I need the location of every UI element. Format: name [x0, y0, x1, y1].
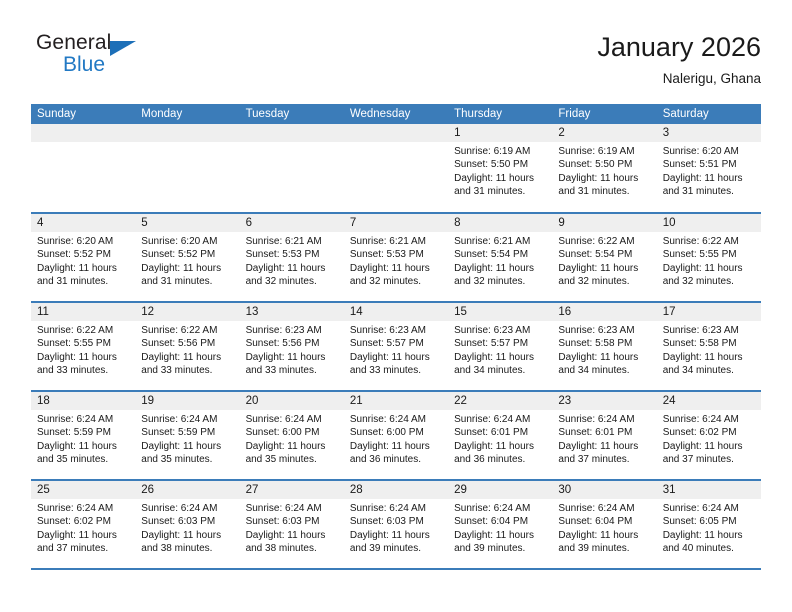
- sunrise-time: Sunrise: 6:24 AM: [558, 502, 651, 515]
- weekday-header-saturday: Saturday: [657, 104, 761, 124]
- day-number: 16: [552, 303, 656, 321]
- calendar-day-cell[interactable]: 5Sunrise: 6:20 AMSunset: 5:52 PMDaylight…: [135, 213, 239, 302]
- day-cell-inner: 17Sunrise: 6:23 AMSunset: 5:58 PMDayligh…: [657, 303, 761, 390]
- day-number: 25: [31, 481, 135, 499]
- day-cell-inner: 13Sunrise: 6:23 AMSunset: 5:56 PMDayligh…: [240, 303, 344, 390]
- calendar-header: Sunday Monday Tuesday Wednesday Thursday…: [31, 104, 761, 124]
- daylight-duration-line1: Daylight: 11 hours: [454, 440, 547, 453]
- day-number: 19: [135, 392, 239, 410]
- day-sun-info: Sunrise: 6:24 AMSunset: 6:05 PMDaylight:…: [657, 499, 761, 556]
- sunrise-time: Sunrise: 6:24 AM: [663, 413, 756, 426]
- daylight-duration-line2: and 33 minutes.: [350, 364, 443, 377]
- calendar-week-row: 11Sunrise: 6:22 AMSunset: 5:55 PMDayligh…: [31, 302, 761, 391]
- day-sun-info: Sunrise: 6:23 AMSunset: 5:58 PMDaylight:…: [552, 321, 656, 378]
- day-sun-info: Sunrise: 6:24 AMSunset: 6:02 PMDaylight:…: [31, 499, 135, 556]
- day-cell-inner: 31Sunrise: 6:24 AMSunset: 6:05 PMDayligh…: [657, 481, 761, 568]
- daylight-duration-line1: Daylight: 11 hours: [37, 351, 130, 364]
- daylight-duration-line1: Daylight: 11 hours: [37, 440, 130, 453]
- sunrise-time: Sunrise: 6:23 AM: [246, 324, 339, 337]
- sunrise-time: Sunrise: 6:24 AM: [37, 502, 130, 515]
- sunrise-time: Sunrise: 6:22 AM: [141, 324, 234, 337]
- day-number: 21: [344, 392, 448, 410]
- daylight-duration-line2: and 32 minutes.: [558, 275, 651, 288]
- day-number: 20: [240, 392, 344, 410]
- day-cell-inner: 19Sunrise: 6:24 AMSunset: 5:59 PMDayligh…: [135, 392, 239, 479]
- day-cell-inner: 25Sunrise: 6:24 AMSunset: 6:02 PMDayligh…: [31, 481, 135, 568]
- calendar-day-cell[interactable]: 25Sunrise: 6:24 AMSunset: 6:02 PMDayligh…: [31, 480, 135, 569]
- day-number: [344, 124, 448, 142]
- daylight-duration-line1: Daylight: 11 hours: [663, 351, 756, 364]
- calendar-day-cell[interactable]: 28Sunrise: 6:24 AMSunset: 6:03 PMDayligh…: [344, 480, 448, 569]
- calendar-day-cell[interactable]: 4Sunrise: 6:20 AMSunset: 5:52 PMDaylight…: [31, 213, 135, 302]
- sunset-time: Sunset: 6:05 PM: [663, 515, 756, 528]
- day-sun-info: Sunrise: 6:23 AMSunset: 5:57 PMDaylight:…: [344, 321, 448, 378]
- daylight-duration-line1: Daylight: 11 hours: [558, 529, 651, 542]
- sunset-time: Sunset: 5:58 PM: [663, 337, 756, 350]
- day-cell-inner: 29Sunrise: 6:24 AMSunset: 6:04 PMDayligh…: [448, 481, 552, 568]
- weekday-header-row: Sunday Monday Tuesday Wednesday Thursday…: [31, 104, 761, 124]
- sunrise-time: Sunrise: 6:24 AM: [454, 413, 547, 426]
- calendar-day-cell[interactable]: 18Sunrise: 6:24 AMSunset: 5:59 PMDayligh…: [31, 391, 135, 480]
- day-sun-info: Sunrise: 6:23 AMSunset: 5:58 PMDaylight:…: [657, 321, 761, 378]
- calendar-day-cell[interactable]: 20Sunrise: 6:24 AMSunset: 6:00 PMDayligh…: [240, 391, 344, 480]
- daylight-duration-line1: Daylight: 11 hours: [246, 351, 339, 364]
- day-cell-inner: 20Sunrise: 6:24 AMSunset: 6:00 PMDayligh…: [240, 392, 344, 479]
- day-cell-inner: [31, 124, 135, 212]
- calendar-body: 1Sunrise: 6:19 AMSunset: 5:50 PMDaylight…: [31, 124, 761, 569]
- sunrise-time: Sunrise: 6:24 AM: [141, 502, 234, 515]
- weekday-header-tuesday: Tuesday: [240, 104, 344, 124]
- sunset-time: Sunset: 5:51 PM: [663, 158, 756, 171]
- calendar-day-cell-empty: [31, 124, 135, 213]
- calendar-day-cell[interactable]: 26Sunrise: 6:24 AMSunset: 6:03 PMDayligh…: [135, 480, 239, 569]
- daylight-duration-line2: and 31 minutes.: [558, 185, 651, 198]
- sunset-time: Sunset: 6:03 PM: [350, 515, 443, 528]
- day-number: 27: [240, 481, 344, 499]
- calendar-day-cell[interactable]: 9Sunrise: 6:22 AMSunset: 5:54 PMDaylight…: [552, 213, 656, 302]
- daylight-duration-line2: and 37 minutes.: [663, 453, 756, 466]
- day-cell-inner: 8Sunrise: 6:21 AMSunset: 5:54 PMDaylight…: [448, 214, 552, 301]
- sunrise-time: Sunrise: 6:24 AM: [37, 413, 130, 426]
- calendar-day-cell[interactable]: 12Sunrise: 6:22 AMSunset: 5:56 PMDayligh…: [135, 302, 239, 391]
- sunrise-time: Sunrise: 6:21 AM: [246, 235, 339, 248]
- sunrise-time: Sunrise: 6:22 AM: [663, 235, 756, 248]
- day-number: 14: [344, 303, 448, 321]
- calendar-day-cell[interactable]: 31Sunrise: 6:24 AMSunset: 6:05 PMDayligh…: [657, 480, 761, 569]
- title-block: January 2026 Nalerigu, Ghana: [597, 31, 761, 89]
- day-sun-info: Sunrise: 6:23 AMSunset: 5:57 PMDaylight:…: [448, 321, 552, 378]
- day-cell-inner: 28Sunrise: 6:24 AMSunset: 6:03 PMDayligh…: [344, 481, 448, 568]
- sunrise-time: Sunrise: 6:24 AM: [350, 413, 443, 426]
- daylight-duration-line1: Daylight: 11 hours: [558, 351, 651, 364]
- day-number: 10: [657, 214, 761, 232]
- calendar-day-cell[interactable]: 24Sunrise: 6:24 AMSunset: 6:02 PMDayligh…: [657, 391, 761, 480]
- day-cell-inner: 22Sunrise: 6:24 AMSunset: 6:01 PMDayligh…: [448, 392, 552, 479]
- day-number: 28: [344, 481, 448, 499]
- sunset-time: Sunset: 5:54 PM: [454, 248, 547, 261]
- day-sun-info: Sunrise: 6:24 AMSunset: 6:03 PMDaylight:…: [240, 499, 344, 556]
- day-number: 11: [31, 303, 135, 321]
- day-number: 29: [448, 481, 552, 499]
- day-number: 17: [657, 303, 761, 321]
- sunset-time: Sunset: 6:03 PM: [141, 515, 234, 528]
- sunset-time: Sunset: 5:55 PM: [663, 248, 756, 261]
- day-cell-inner: 27Sunrise: 6:24 AMSunset: 6:03 PMDayligh…: [240, 481, 344, 568]
- sunrise-time: Sunrise: 6:23 AM: [558, 324, 651, 337]
- daylight-duration-line2: and 33 minutes.: [141, 364, 234, 377]
- day-cell-inner: 11Sunrise: 6:22 AMSunset: 5:55 PMDayligh…: [31, 303, 135, 390]
- calendar-day-cell[interactable]: 3Sunrise: 6:20 AMSunset: 5:51 PMDaylight…: [657, 124, 761, 213]
- sunset-time: Sunset: 5:52 PM: [37, 248, 130, 261]
- day-sun-info: Sunrise: 6:20 AMSunset: 5:51 PMDaylight:…: [657, 142, 761, 199]
- calendar-day-cell[interactable]: 19Sunrise: 6:24 AMSunset: 5:59 PMDayligh…: [135, 391, 239, 480]
- calendar-day-cell[interactable]: 16Sunrise: 6:23 AMSunset: 5:58 PMDayligh…: [552, 302, 656, 391]
- daylight-duration-line2: and 39 minutes.: [558, 542, 651, 555]
- calendar-page: General Blue January 2026 Nalerigu, Ghan…: [0, 0, 792, 612]
- daylight-duration-line1: Daylight: 11 hours: [454, 262, 547, 275]
- calendar-day-cell[interactable]: 8Sunrise: 6:21 AMSunset: 5:54 PMDaylight…: [448, 213, 552, 302]
- sunset-time: Sunset: 6:04 PM: [454, 515, 547, 528]
- day-sun-info: Sunrise: 6:24 AMSunset: 6:01 PMDaylight:…: [552, 410, 656, 467]
- daylight-duration-line1: Daylight: 11 hours: [663, 529, 756, 542]
- calendar-day-cell[interactable]: 13Sunrise: 6:23 AMSunset: 5:56 PMDayligh…: [240, 302, 344, 391]
- sunset-time: Sunset: 5:52 PM: [141, 248, 234, 261]
- daylight-duration-line1: Daylight: 11 hours: [350, 351, 443, 364]
- daylight-duration-line1: Daylight: 11 hours: [663, 262, 756, 275]
- day-number: 31: [657, 481, 761, 499]
- daylight-duration-line1: Daylight: 11 hours: [350, 440, 443, 453]
- sunrise-time: Sunrise: 6:24 AM: [558, 413, 651, 426]
- daylight-duration-line1: Daylight: 11 hours: [141, 351, 234, 364]
- day-number: 26: [135, 481, 239, 499]
- calendar-day-cell-empty: [135, 124, 239, 213]
- weekday-header-monday: Monday: [135, 104, 239, 124]
- day-sun-info: Sunrise: 6:22 AMSunset: 5:56 PMDaylight:…: [135, 321, 239, 378]
- sunrise-time: Sunrise: 6:21 AM: [454, 235, 547, 248]
- sunset-time: Sunset: 5:57 PM: [350, 337, 443, 350]
- sunset-time: Sunset: 6:03 PM: [246, 515, 339, 528]
- day-number: 2: [552, 124, 656, 142]
- day-sun-info: Sunrise: 6:24 AMSunset: 6:03 PMDaylight:…: [344, 499, 448, 556]
- daylight-duration-line1: Daylight: 11 hours: [246, 529, 339, 542]
- calendar-week-row: 18Sunrise: 6:24 AMSunset: 5:59 PMDayligh…: [31, 391, 761, 480]
- daylight-duration-line2: and 31 minutes.: [141, 275, 234, 288]
- daylight-duration-line1: Daylight: 11 hours: [37, 529, 130, 542]
- daylight-duration-line2: and 40 minutes.: [663, 542, 756, 555]
- daylight-duration-line2: and 37 minutes.: [37, 542, 130, 555]
- daylight-duration-line1: Daylight: 11 hours: [141, 262, 234, 275]
- logo-text-general: General: [36, 31, 111, 55]
- sunset-time: Sunset: 5:54 PM: [558, 248, 651, 261]
- sunrise-time: Sunrise: 6:22 AM: [558, 235, 651, 248]
- daylight-duration-line1: Daylight: 11 hours: [558, 262, 651, 275]
- daylight-duration-line1: Daylight: 11 hours: [37, 262, 130, 275]
- sunset-time: Sunset: 6:00 PM: [350, 426, 443, 439]
- day-cell-inner: 16Sunrise: 6:23 AMSunset: 5:58 PMDayligh…: [552, 303, 656, 390]
- sunset-time: Sunset: 6:04 PM: [558, 515, 651, 528]
- sunrise-time: Sunrise: 6:21 AM: [350, 235, 443, 248]
- day-number: 6: [240, 214, 344, 232]
- day-cell-inner: 10Sunrise: 6:22 AMSunset: 5:55 PMDayligh…: [657, 214, 761, 301]
- day-cell-inner: 23Sunrise: 6:24 AMSunset: 6:01 PMDayligh…: [552, 392, 656, 479]
- day-number: [240, 124, 344, 142]
- calendar-day-cell[interactable]: 17Sunrise: 6:23 AMSunset: 5:58 PMDayligh…: [657, 302, 761, 391]
- daylight-duration-line2: and 38 minutes.: [141, 542, 234, 555]
- day-cell-inner: 30Sunrise: 6:24 AMSunset: 6:04 PMDayligh…: [552, 481, 656, 568]
- daylight-duration-line1: Daylight: 11 hours: [246, 440, 339, 453]
- logo-triangle-icon: [110, 41, 136, 56]
- calendar-day-cell[interactable]: 1Sunrise: 6:19 AMSunset: 5:50 PMDaylight…: [448, 124, 552, 213]
- calendar-grid: Sunday Monday Tuesday Wednesday Thursday…: [31, 104, 761, 570]
- day-cell-inner: 12Sunrise: 6:22 AMSunset: 5:56 PMDayligh…: [135, 303, 239, 390]
- calendar-day-cell[interactable]: 7Sunrise: 6:21 AMSunset: 5:53 PMDaylight…: [344, 213, 448, 302]
- logo-text-blue: Blue: [63, 53, 105, 77]
- day-sun-info: Sunrise: 6:24 AMSunset: 5:59 PMDaylight:…: [135, 410, 239, 467]
- sunset-time: Sunset: 5:59 PM: [141, 426, 234, 439]
- daylight-duration-line2: and 35 minutes.: [141, 453, 234, 466]
- calendar-day-cell[interactable]: 27Sunrise: 6:24 AMSunset: 6:03 PMDayligh…: [240, 480, 344, 569]
- calendar-day-cell[interactable]: 15Sunrise: 6:23 AMSunset: 5:57 PMDayligh…: [448, 302, 552, 391]
- calendar-week-row: 4Sunrise: 6:20 AMSunset: 5:52 PMDaylight…: [31, 213, 761, 302]
- day-cell-inner: [135, 124, 239, 212]
- day-number: 18: [31, 392, 135, 410]
- day-cell-inner: 3Sunrise: 6:20 AMSunset: 5:51 PMDaylight…: [657, 124, 761, 212]
- day-sun-info: Sunrise: 6:24 AMSunset: 5:59 PMDaylight:…: [31, 410, 135, 467]
- day-cell-inner: [344, 124, 448, 212]
- daylight-duration-line2: and 32 minutes.: [454, 275, 547, 288]
- daylight-duration-line2: and 32 minutes.: [663, 275, 756, 288]
- daylight-duration-line1: Daylight: 11 hours: [454, 529, 547, 542]
- day-cell-inner: 9Sunrise: 6:22 AMSunset: 5:54 PMDaylight…: [552, 214, 656, 301]
- day-number: 13: [240, 303, 344, 321]
- sunrise-time: Sunrise: 6:22 AM: [37, 324, 130, 337]
- sunrise-time: Sunrise: 6:19 AM: [454, 145, 547, 158]
- sunrise-time: Sunrise: 6:20 AM: [37, 235, 130, 248]
- day-sun-info: Sunrise: 6:24 AMSunset: 6:01 PMDaylight:…: [448, 410, 552, 467]
- day-cell-inner: 1Sunrise: 6:19 AMSunset: 5:50 PMDaylight…: [448, 124, 552, 212]
- sunset-time: Sunset: 6:02 PM: [663, 426, 756, 439]
- daylight-duration-line2: and 31 minutes.: [37, 275, 130, 288]
- day-cell-inner: [240, 124, 344, 212]
- calendar-day-cell[interactable]: 29Sunrise: 6:24 AMSunset: 6:04 PMDayligh…: [448, 480, 552, 569]
- day-number: 1: [448, 124, 552, 142]
- sunrise-time: Sunrise: 6:20 AM: [141, 235, 234, 248]
- day-cell-inner: 21Sunrise: 6:24 AMSunset: 6:00 PMDayligh…: [344, 392, 448, 479]
- daylight-duration-line2: and 35 minutes.: [246, 453, 339, 466]
- day-sun-info: Sunrise: 6:24 AMSunset: 6:00 PMDaylight:…: [240, 410, 344, 467]
- sunrise-time: Sunrise: 6:23 AM: [350, 324, 443, 337]
- day-sun-info: Sunrise: 6:20 AMSunset: 5:52 PMDaylight:…: [31, 232, 135, 289]
- day-number: 22: [448, 392, 552, 410]
- sunset-time: Sunset: 6:00 PM: [246, 426, 339, 439]
- day-cell-inner: 2Sunrise: 6:19 AMSunset: 5:50 PMDaylight…: [552, 124, 656, 212]
- daylight-duration-line1: Daylight: 11 hours: [350, 262, 443, 275]
- daylight-duration-line2: and 33 minutes.: [246, 364, 339, 377]
- sunrise-time: Sunrise: 6:19 AM: [558, 145, 651, 158]
- daylight-duration-line2: and 34 minutes.: [454, 364, 547, 377]
- daylight-duration-line1: Daylight: 11 hours: [350, 529, 443, 542]
- day-number: 23: [552, 392, 656, 410]
- day-sun-info: Sunrise: 6:19 AMSunset: 5:50 PMDaylight:…: [552, 142, 656, 199]
- day-sun-info: Sunrise: 6:24 AMSunset: 6:04 PMDaylight:…: [552, 499, 656, 556]
- daylight-duration-line1: Daylight: 11 hours: [246, 262, 339, 275]
- sunset-time: Sunset: 6:01 PM: [454, 426, 547, 439]
- daylight-duration-line1: Daylight: 11 hours: [663, 172, 756, 185]
- day-sun-info: Sunrise: 6:22 AMSunset: 5:55 PMDaylight:…: [31, 321, 135, 378]
- sunset-time: Sunset: 5:53 PM: [350, 248, 443, 261]
- daylight-duration-line2: and 34 minutes.: [558, 364, 651, 377]
- daylight-duration-line1: Daylight: 11 hours: [454, 172, 547, 185]
- weekday-header-thursday: Thursday: [448, 104, 552, 124]
- day-cell-inner: 4Sunrise: 6:20 AMSunset: 5:52 PMDaylight…: [31, 214, 135, 301]
- weekday-header-sunday: Sunday: [31, 104, 135, 124]
- day-sun-info: Sunrise: 6:21 AMSunset: 5:53 PMDaylight:…: [240, 232, 344, 289]
- day-number: 5: [135, 214, 239, 232]
- daylight-duration-line1: Daylight: 11 hours: [663, 440, 756, 453]
- calendar-week-row: 1Sunrise: 6:19 AMSunset: 5:50 PMDaylight…: [31, 124, 761, 213]
- day-sun-info: Sunrise: 6:23 AMSunset: 5:56 PMDaylight:…: [240, 321, 344, 378]
- daylight-duration-line1: Daylight: 11 hours: [454, 351, 547, 364]
- page-title: January 2026: [597, 31, 761, 63]
- daylight-duration-line1: Daylight: 11 hours: [558, 440, 651, 453]
- sunrise-time: Sunrise: 6:24 AM: [663, 502, 756, 515]
- weekday-header-wednesday: Wednesday: [344, 104, 448, 124]
- sunset-time: Sunset: 5:50 PM: [558, 158, 651, 171]
- day-sun-info: Sunrise: 6:20 AMSunset: 5:52 PMDaylight:…: [135, 232, 239, 289]
- day-cell-inner: 24Sunrise: 6:24 AMSunset: 6:02 PMDayligh…: [657, 392, 761, 479]
- day-number: 12: [135, 303, 239, 321]
- day-sun-info: Sunrise: 6:21 AMSunset: 5:53 PMDaylight:…: [344, 232, 448, 289]
- day-cell-inner: 14Sunrise: 6:23 AMSunset: 5:57 PMDayligh…: [344, 303, 448, 390]
- calendar-week-row: 25Sunrise: 6:24 AMSunset: 6:02 PMDayligh…: [31, 480, 761, 569]
- daylight-duration-line2: and 36 minutes.: [454, 453, 547, 466]
- sunrise-time: Sunrise: 6:23 AM: [454, 324, 547, 337]
- general-blue-logo[interactable]: General Blue: [31, 31, 161, 83]
- day-sun-info: Sunrise: 6:22 AMSunset: 5:54 PMDaylight:…: [552, 232, 656, 289]
- day-number: 9: [552, 214, 656, 232]
- day-cell-inner: 18Sunrise: 6:24 AMSunset: 5:59 PMDayligh…: [31, 392, 135, 479]
- day-number: 7: [344, 214, 448, 232]
- sunset-time: Sunset: 5:58 PM: [558, 337, 651, 350]
- sunset-time: Sunset: 5:53 PM: [246, 248, 339, 261]
- calendar-day-cell-empty: [240, 124, 344, 213]
- day-number: 8: [448, 214, 552, 232]
- daylight-duration-line2: and 33 minutes.: [37, 364, 130, 377]
- weekday-header-friday: Friday: [552, 104, 656, 124]
- sunset-time: Sunset: 5:55 PM: [37, 337, 130, 350]
- calendar-day-cell[interactable]: 30Sunrise: 6:24 AMSunset: 6:04 PMDayligh…: [552, 480, 656, 569]
- sunset-time: Sunset: 5:57 PM: [454, 337, 547, 350]
- sunset-time: Sunset: 5:56 PM: [246, 337, 339, 350]
- daylight-duration-line2: and 32 minutes.: [246, 275, 339, 288]
- calendar-day-cell[interactable]: 2Sunrise: 6:19 AMSunset: 5:50 PMDaylight…: [552, 124, 656, 213]
- day-sun-info: Sunrise: 6:24 AMSunset: 6:03 PMDaylight:…: [135, 499, 239, 556]
- day-sun-info: Sunrise: 6:24 AMSunset: 6:04 PMDaylight:…: [448, 499, 552, 556]
- daylight-duration-line1: Daylight: 11 hours: [141, 529, 234, 542]
- sunset-time: Sunset: 6:02 PM: [37, 515, 130, 528]
- day-number: 24: [657, 392, 761, 410]
- calendar-day-cell[interactable]: 21Sunrise: 6:24 AMSunset: 6:00 PMDayligh…: [344, 391, 448, 480]
- daylight-duration-line2: and 34 minutes.: [663, 364, 756, 377]
- daylight-duration-line2: and 35 minutes.: [37, 453, 130, 466]
- daylight-duration-line2: and 37 minutes.: [558, 453, 651, 466]
- day-number: 30: [552, 481, 656, 499]
- day-sun-info: Sunrise: 6:24 AMSunset: 6:00 PMDaylight:…: [344, 410, 448, 467]
- daylight-duration-line2: and 32 minutes.: [350, 275, 443, 288]
- day-cell-inner: 6Sunrise: 6:21 AMSunset: 5:53 PMDaylight…: [240, 214, 344, 301]
- daylight-duration-line2: and 39 minutes.: [454, 542, 547, 555]
- daylight-duration-line2: and 39 minutes.: [350, 542, 443, 555]
- day-cell-inner: 15Sunrise: 6:23 AMSunset: 5:57 PMDayligh…: [448, 303, 552, 390]
- sunrise-time: Sunrise: 6:24 AM: [454, 502, 547, 515]
- calendar-day-cell[interactable]: 14Sunrise: 6:23 AMSunset: 5:57 PMDayligh…: [344, 302, 448, 391]
- page-subtitle-location: Nalerigu, Ghana: [597, 69, 761, 89]
- sunset-time: Sunset: 5:56 PM: [141, 337, 234, 350]
- sunrise-time: Sunrise: 6:24 AM: [246, 502, 339, 515]
- day-number: 3: [657, 124, 761, 142]
- day-sun-info: Sunrise: 6:19 AMSunset: 5:50 PMDaylight:…: [448, 142, 552, 199]
- day-sun-info: Sunrise: 6:24 AMSunset: 6:02 PMDaylight:…: [657, 410, 761, 467]
- sunrise-time: Sunrise: 6:23 AM: [663, 324, 756, 337]
- sunrise-time: Sunrise: 6:24 AM: [246, 413, 339, 426]
- daylight-duration-line2: and 31 minutes.: [454, 185, 547, 198]
- sunrise-time: Sunrise: 6:24 AM: [141, 413, 234, 426]
- sunset-time: Sunset: 6:01 PM: [558, 426, 651, 439]
- calendar-day-cell[interactable]: 23Sunrise: 6:24 AMSunset: 6:01 PMDayligh…: [552, 391, 656, 480]
- sunset-time: Sunset: 5:50 PM: [454, 158, 547, 171]
- sunrise-time: Sunrise: 6:24 AM: [350, 502, 443, 515]
- day-cell-inner: 5Sunrise: 6:20 AMSunset: 5:52 PMDaylight…: [135, 214, 239, 301]
- sunset-time: Sunset: 5:59 PM: [37, 426, 130, 439]
- day-number: [135, 124, 239, 142]
- daylight-duration-line1: Daylight: 11 hours: [558, 172, 651, 185]
- calendar-day-cell[interactable]: 11Sunrise: 6:22 AMSunset: 5:55 PMDayligh…: [31, 302, 135, 391]
- day-number: 4: [31, 214, 135, 232]
- daylight-duration-line2: and 38 minutes.: [246, 542, 339, 555]
- day-number: [31, 124, 135, 142]
- sunrise-time: Sunrise: 6:20 AM: [663, 145, 756, 158]
- daylight-duration-line2: and 36 minutes.: [350, 453, 443, 466]
- day-number: 15: [448, 303, 552, 321]
- daylight-duration-line2: and 31 minutes.: [663, 185, 756, 198]
- day-cell-inner: 26Sunrise: 6:24 AMSunset: 6:03 PMDayligh…: [135, 481, 239, 568]
- day-sun-info: Sunrise: 6:22 AMSunset: 5:55 PMDaylight:…: [657, 232, 761, 289]
- page-header: General Blue January 2026 Nalerigu, Ghan…: [31, 31, 761, 99]
- day-cell-inner: 7Sunrise: 6:21 AMSunset: 5:53 PMDaylight…: [344, 214, 448, 301]
- day-sun-info: Sunrise: 6:21 AMSunset: 5:54 PMDaylight:…: [448, 232, 552, 289]
- calendar-day-cell[interactable]: 6Sunrise: 6:21 AMSunset: 5:53 PMDaylight…: [240, 213, 344, 302]
- daylight-duration-line1: Daylight: 11 hours: [141, 440, 234, 453]
- calendar-day-cell-empty: [344, 124, 448, 213]
- calendar-day-cell[interactable]: 22Sunrise: 6:24 AMSunset: 6:01 PMDayligh…: [448, 391, 552, 480]
- calendar-day-cell[interactable]: 10Sunrise: 6:22 AMSunset: 5:55 PMDayligh…: [657, 213, 761, 302]
